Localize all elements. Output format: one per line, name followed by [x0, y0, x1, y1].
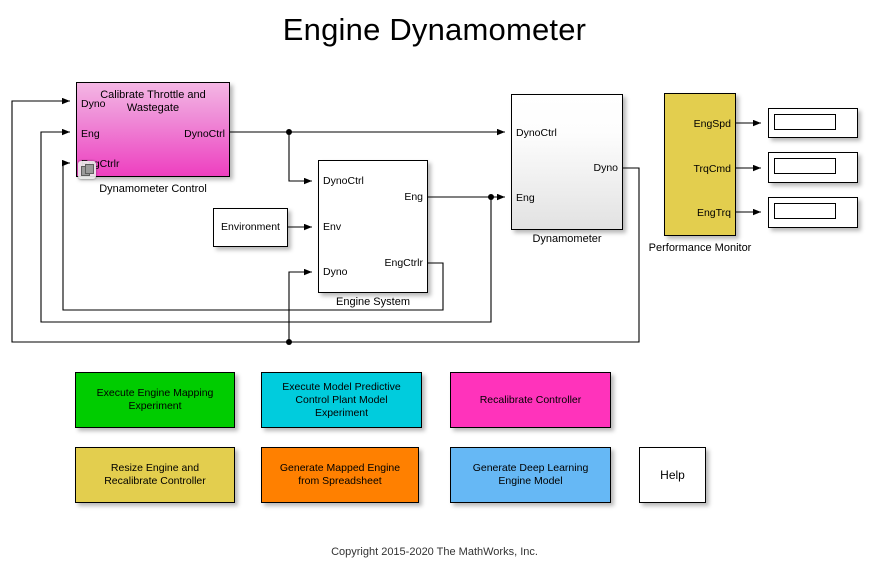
port-in-dynoctrl: DynoCtrl [516, 128, 557, 139]
port-out-trqcmd: TrqCmd [693, 164, 731, 175]
simulink-model-canvas: Engine Dynamometer [0, 0, 869, 573]
display-engtrq[interactable] [768, 197, 858, 228]
button-execute-model-predictive-control-plant-model-experiment[interactable]: Execute Model Predictive Control Plant M… [261, 372, 422, 428]
block-label-environment: Environment [214, 221, 287, 233]
block-label-performance-monitor: Performance Monitor [640, 242, 760, 254]
button-resize-engine-and-recalibrate-controller[interactable]: Resize Engine and Recalibrate Controller [75, 447, 235, 503]
button-recalibrate-controller[interactable]: Recalibrate Controller [450, 372, 611, 428]
port-in-dynoctrl: DynoCtrl [323, 176, 364, 187]
block-label-dynamometer: Dynamometer [511, 233, 623, 245]
display-trqcmd-value [774, 158, 836, 174]
port-in-env: Env [323, 222, 341, 233]
port-out-engctrlr: EngCtrlr [384, 258, 423, 269]
port-in-eng: Eng [516, 193, 535, 204]
block-dynamometer[interactable]: DynoCtrl Eng Dyno [511, 94, 623, 230]
port-out-dyno: Dyno [593, 163, 618, 174]
port-out-engtrq: EngTrq [697, 208, 731, 219]
display-engspd[interactable] [768, 108, 858, 138]
copyright-notice: Copyright 2015-2020 The MathWorks, Inc. [0, 546, 869, 558]
block-label-dynamometer-control: Dynamometer Control [76, 183, 230, 195]
port-in-dyno: Dyno [81, 99, 106, 110]
port-in-eng: Eng [81, 129, 100, 140]
button-generate-deep-learning-engine-model[interactable]: Generate Deep Learning Engine Model [450, 447, 611, 503]
page-title: Engine Dynamometer [0, 12, 869, 48]
block-performance-monitor[interactable]: EngSpd TrqCmd EngTrq [664, 93, 736, 236]
port-in-dyno: Dyno [323, 267, 348, 278]
port-out-dynoctrl: DynoCtrl [184, 129, 225, 140]
button-execute-engine-mapping-experiment[interactable]: Execute Engine Mapping Experiment [75, 372, 235, 428]
button-generate-mapped-engine-from-spreadsheet[interactable]: Generate Mapped Engine from Spreadsheet [261, 447, 419, 503]
block-dynamometer-control[interactable]: Calibrate Throttle and Wastegate Dyno En… [76, 82, 230, 177]
block-label-engine-system: Engine System [318, 296, 428, 308]
display-trqcmd[interactable] [768, 152, 858, 183]
port-out-eng: Eng [404, 192, 423, 203]
block-engine-system[interactable]: DynoCtrl Env Dyno Eng EngCtrlr [318, 160, 428, 293]
button-help[interactable]: Help [639, 447, 706, 503]
block-environment[interactable]: Environment [213, 208, 288, 247]
display-engtrq-value [774, 203, 836, 219]
port-out-engspd: EngSpd [694, 119, 731, 130]
model-reference-badge-icon [78, 161, 96, 179]
display-engspd-value [774, 114, 836, 130]
